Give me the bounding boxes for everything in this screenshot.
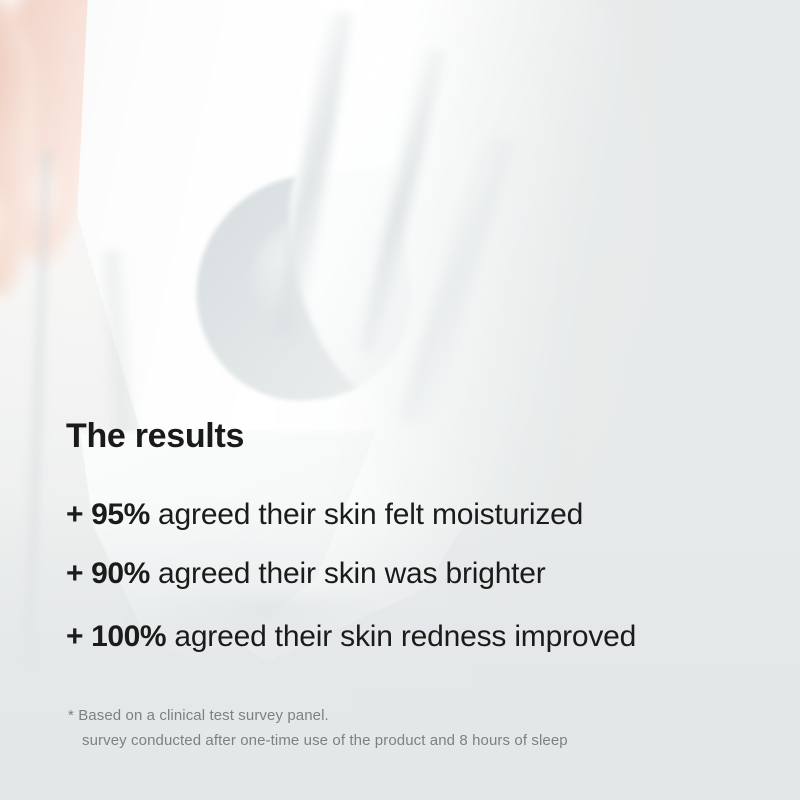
stat-prefix: + [66,498,91,531]
stat-text: agreed their skin felt moisturized [150,498,583,531]
footnote-line-2: survey conducted after one-time use of t… [82,733,568,748]
stat-percent: 100% [91,620,166,653]
stat-prefix: + [66,620,91,653]
stat-prefix: + [66,557,91,590]
stat-line-brighter: + 90% agreed their skin was brighter [66,559,546,589]
footnote-line-1: * Based on a clinical test survey panel. [68,708,329,723]
product-marketing-image: The results + 95% agreed their skin felt… [0,0,800,800]
stat-percent: 90% [91,557,150,590]
stat-text: agreed their skin redness improved [166,620,636,653]
stat-line-moisturized: + 95% agreed their skin felt moisturized [66,500,583,530]
page-title: The results [66,419,244,453]
copy-block: The results + 95% agreed their skin felt… [0,0,800,800]
stat-line-redness: + 100% agreed their skin redness improve… [66,622,636,652]
stat-text: agreed their skin was brighter [150,557,546,590]
stat-percent: 95% [91,498,150,531]
